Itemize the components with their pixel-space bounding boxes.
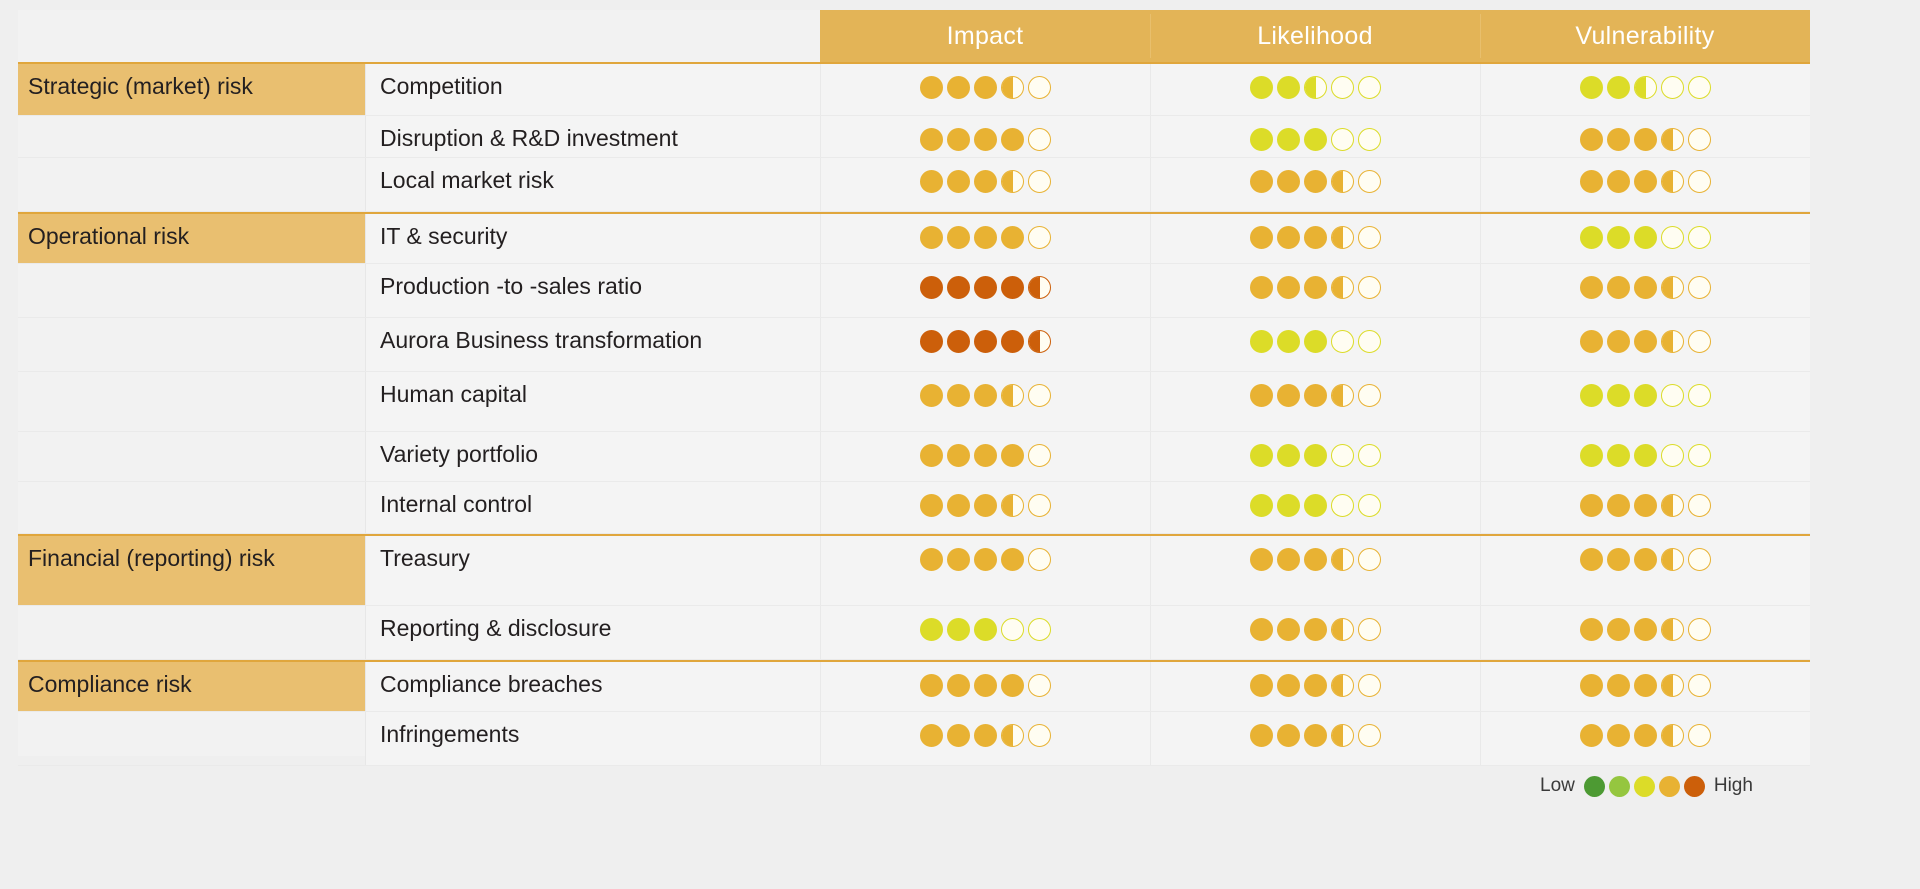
rating-cells [820, 432, 1810, 481]
rating-dot-full [1607, 444, 1630, 467]
rating-dots [1580, 128, 1711, 151]
rating-dot-full [1607, 276, 1630, 299]
rating-dot-half [1661, 330, 1684, 353]
rating-dot-full [974, 128, 997, 151]
rating-dot-half [1304, 76, 1327, 99]
rating-dot-half [1001, 494, 1024, 517]
rating-dots [1250, 226, 1381, 249]
rating-dot-full [1634, 276, 1657, 299]
rating-cells [820, 64, 1810, 115]
rating-dot-half [1661, 674, 1684, 697]
rating-cell-likelihood[interactable] [1150, 214, 1480, 263]
rating-dot-full [1607, 384, 1630, 407]
rating-dot-empty [1358, 276, 1381, 299]
rating-cell-vulnerability[interactable] [1480, 662, 1810, 711]
rating-cell-impact[interactable] [820, 432, 1150, 481]
rating-cell-impact[interactable] [820, 606, 1150, 659]
rating-dots [920, 618, 1051, 641]
rating-cell-impact[interactable] [820, 712, 1150, 765]
rating-dot-full [947, 226, 970, 249]
rating-cell-likelihood[interactable] [1150, 116, 1480, 157]
table-row[interactable]: Reporting & disclosure [18, 606, 1810, 660]
rating-cells [820, 214, 1810, 263]
rating-dots [1580, 76, 1711, 99]
table-row[interactable]: Operational riskIT & security [18, 212, 1810, 264]
rating-dot-full [1250, 548, 1273, 571]
rating-dot-half-fill [1029, 277, 1040, 298]
rating-dot-half-fill [1029, 331, 1040, 352]
rating-dots [920, 276, 1051, 299]
rating-cell-likelihood[interactable] [1150, 264, 1480, 317]
rating-dot-empty [1688, 226, 1711, 249]
rating-dots [1580, 170, 1711, 193]
rating-dot-half-fill [1662, 549, 1673, 570]
rating-dot-full [920, 76, 943, 99]
rating-dots [1580, 444, 1711, 467]
rating-dot-full [1250, 170, 1273, 193]
rating-cell-vulnerability[interactable] [1480, 712, 1810, 765]
rating-dot-empty [1358, 548, 1381, 571]
rating-dots [1580, 276, 1711, 299]
rating-cells [820, 712, 1810, 765]
rating-dots [1250, 330, 1381, 353]
rating-dot-full [1277, 724, 1300, 747]
rating-dots [1250, 494, 1381, 517]
rating-dots [1580, 548, 1711, 571]
rating-dot-full [920, 674, 943, 697]
rating-dot-empty [1028, 494, 1051, 517]
rating-dot-full [1634, 330, 1657, 353]
rating-dot-empty [1358, 618, 1381, 641]
table-row[interactable]: Aurora Business transformation [18, 318, 1810, 372]
rating-dot-full [920, 128, 943, 151]
rating-dot-empty [1028, 674, 1051, 697]
legend-swatches [1584, 776, 1705, 797]
rating-dot-half [1634, 76, 1657, 99]
rating-dot-half-fill [1662, 277, 1673, 298]
rating-dot-full [947, 170, 970, 193]
rating-dot-full [1607, 128, 1630, 151]
rating-dot-full [920, 384, 943, 407]
table-row[interactable]: Production -to -sales ratio [18, 264, 1810, 318]
rating-dot-full [1304, 276, 1327, 299]
rating-dots [1580, 674, 1711, 697]
table-row[interactable]: Internal control [18, 482, 1810, 534]
rating-dot-full [920, 170, 943, 193]
rating-cell-vulnerability[interactable] [1480, 158, 1810, 211]
rating-dot-full [1580, 170, 1603, 193]
rating-dots [920, 674, 1051, 697]
rating-dot-full [947, 76, 970, 99]
rating-dot-full [1304, 384, 1327, 407]
rating-dot-full [974, 384, 997, 407]
rating-dot-full [1001, 226, 1024, 249]
table-row[interactable]: Disruption & R&D investment [18, 116, 1810, 158]
risk-category-spacer [18, 116, 365, 157]
rating-cell-impact[interactable] [820, 64, 1150, 115]
rating-dot-full [920, 226, 943, 249]
rating-dot-empty [1358, 226, 1381, 249]
rating-dots [1250, 548, 1381, 571]
rating-dots [1250, 128, 1381, 151]
rating-cell-likelihood[interactable] [1150, 712, 1480, 765]
rating-dot-full [947, 444, 970, 467]
rating-dot-full [947, 128, 970, 151]
rating-dot-full [1634, 724, 1657, 747]
rating-dot-empty [1661, 226, 1684, 249]
rating-dot-full [1607, 724, 1630, 747]
rating-cell-vulnerability[interactable] [1480, 606, 1810, 659]
rating-dot-full [1250, 76, 1273, 99]
rating-dot-full [1580, 226, 1603, 249]
rating-dot-half [1331, 276, 1354, 299]
rating-dot-empty [1331, 76, 1354, 99]
rating-dots [920, 170, 1051, 193]
rating-dot-full [947, 384, 970, 407]
rating-cell-vulnerability[interactable] [1480, 64, 1810, 115]
rating-dot-full [920, 724, 943, 747]
rating-dot-full [1277, 128, 1300, 151]
rating-dot-full [1250, 226, 1273, 249]
rating-dot-empty [1028, 128, 1051, 151]
rating-dot-empty [1661, 384, 1684, 407]
rating-dot-full [947, 494, 970, 517]
rating-dot-full [1277, 384, 1300, 407]
rating-cell-impact[interactable] [820, 318, 1150, 371]
rating-cells [820, 372, 1810, 431]
rating-dot-full [974, 170, 997, 193]
risk-matrix-page: Impact Likelihood Vulnerability Strategi… [0, 0, 1920, 889]
rating-dot-full [1250, 618, 1273, 641]
table-row[interactable]: Strategic (market) riskCompetition [18, 62, 1810, 116]
rating-cell-likelihood[interactable] [1150, 158, 1480, 211]
rating-cell-impact[interactable] [820, 264, 1150, 317]
rating-dot-full [920, 276, 943, 299]
rating-dot-full [1580, 444, 1603, 467]
rating-dot-full [1580, 330, 1603, 353]
rating-cell-impact[interactable] [820, 482, 1150, 533]
rating-dot-full [1580, 276, 1603, 299]
rating-cell-vulnerability[interactable] [1480, 264, 1810, 317]
table-row[interactable]: Financial (reporting) riskTreasury [18, 534, 1810, 606]
rating-dot-empty [1028, 226, 1051, 249]
rating-dot-half-fill [1662, 171, 1673, 192]
risk-name: Compliance breaches [365, 662, 820, 711]
rating-dot-full [1580, 548, 1603, 571]
rating-dot-full [1001, 128, 1024, 151]
rating-dots [920, 128, 1051, 151]
rating-dot-half [1001, 76, 1024, 99]
risk-name: Human capital [365, 372, 820, 431]
rating-dot-empty [1661, 76, 1684, 99]
rating-cell-vulnerability[interactable] [1480, 214, 1810, 263]
table-row[interactable]: Human capital [18, 372, 1810, 432]
rating-dot-half-fill [1662, 619, 1673, 640]
rating-cell-likelihood[interactable] [1150, 536, 1480, 605]
rating-dot-full [1304, 618, 1327, 641]
rating-dot-empty [1358, 674, 1381, 697]
rating-dot-full [947, 548, 970, 571]
risk-name: Production -to -sales ratio [365, 264, 820, 317]
rating-dot-half-fill [1332, 619, 1343, 640]
rating-dot-full [1634, 674, 1657, 697]
risk-name: Aurora Business transformation [365, 318, 820, 371]
table-row[interactable]: Local market risk [18, 158, 1810, 212]
rating-dot-full [947, 724, 970, 747]
header-divider [1150, 14, 1151, 58]
rating-cell-likelihood[interactable] [1150, 432, 1480, 481]
risk-category-label: Strategic (market) risk [18, 64, 365, 115]
rating-dot-full [1634, 494, 1657, 517]
risk-category-spacer [18, 318, 365, 371]
rating-dots [1250, 276, 1381, 299]
rating-dot-half [1331, 618, 1354, 641]
rating-dot-full [1580, 674, 1603, 697]
rating-dot-full [974, 674, 997, 697]
rating-dot-full [1607, 494, 1630, 517]
rating-dot-empty [1688, 494, 1711, 517]
rating-dot-half [1661, 128, 1684, 151]
rating-dot-full [974, 276, 997, 299]
risk-name: Local market risk [365, 158, 820, 211]
rating-dot-full [1634, 444, 1657, 467]
rating-dots [920, 548, 1051, 571]
rating-cell-likelihood[interactable] [1150, 64, 1480, 115]
rating-dots [1250, 618, 1381, 641]
rating-dots [1250, 674, 1381, 697]
table-row[interactable]: Compliance riskCompliance breaches [18, 660, 1810, 712]
rating-cell-impact[interactable] [820, 158, 1150, 211]
rating-dot-full [974, 76, 997, 99]
rating-dot-full [1277, 444, 1300, 467]
rating-dot-full [1304, 494, 1327, 517]
rating-cell-impact[interactable] [820, 116, 1150, 157]
rating-dot-empty [1331, 330, 1354, 353]
rating-dot-half-fill [1635, 77, 1646, 98]
rating-dots [920, 384, 1051, 407]
rating-dot-full [1277, 76, 1300, 99]
rating-cells [820, 264, 1810, 317]
rating-dot-half-fill [1662, 495, 1673, 516]
rating-dot-full [1277, 548, 1300, 571]
rating-cell-likelihood[interactable] [1150, 606, 1480, 659]
rating-dot-full [1277, 226, 1300, 249]
rating-dot-half-fill [1332, 725, 1343, 746]
legend-swatch [1634, 776, 1655, 797]
rating-dot-half-fill [1002, 495, 1013, 516]
rating-cell-likelihood[interactable] [1150, 318, 1480, 371]
rating-dot-empty [1028, 444, 1051, 467]
rating-dot-half-fill [1305, 77, 1316, 98]
legend-high-label: High [1714, 775, 1753, 797]
rating-dot-full [920, 330, 943, 353]
rating-cell-likelihood[interactable] [1150, 372, 1480, 431]
risk-name: Treasury [365, 536, 820, 605]
rating-cell-vulnerability[interactable] [1480, 318, 1810, 371]
legend-swatch [1684, 776, 1705, 797]
header-divider [1480, 14, 1481, 58]
rating-cell-likelihood[interactable] [1150, 482, 1480, 533]
rating-dot-half [1028, 330, 1051, 353]
rating-dot-full [920, 494, 943, 517]
rating-dot-full [1250, 724, 1273, 747]
table-row[interactable]: Variety portfolio [18, 432, 1810, 482]
rating-dot-full [1607, 618, 1630, 641]
rating-dot-full [974, 548, 997, 571]
rating-dot-full [974, 494, 997, 517]
rating-dots [1250, 170, 1381, 193]
rating-dot-empty [1358, 330, 1381, 353]
rating-cell-impact[interactable] [820, 214, 1150, 263]
rating-dot-half-fill [1662, 129, 1673, 150]
risk-category-label: Financial (reporting) risk [18, 536, 365, 605]
rating-dot-full [1607, 674, 1630, 697]
rating-dot-empty [1688, 384, 1711, 407]
rating-dot-full [1304, 170, 1327, 193]
rating-dot-empty [1331, 444, 1354, 467]
rating-cell-impact[interactable] [820, 372, 1150, 431]
rating-dot-empty [1028, 170, 1051, 193]
rating-dot-full [1607, 548, 1630, 571]
rating-cell-impact[interactable] [820, 536, 1150, 605]
rating-dot-half [1331, 724, 1354, 747]
rating-dot-full [1607, 330, 1630, 353]
rating-dot-full [1304, 674, 1327, 697]
rating-dot-empty [1688, 128, 1711, 151]
risk-name: IT & security [365, 214, 820, 263]
rating-dot-full [1250, 276, 1273, 299]
rating-dot-full [1250, 330, 1273, 353]
rating-dots [1250, 724, 1381, 747]
rating-dot-half-fill [1332, 171, 1343, 192]
risk-category-spacer [18, 606, 365, 659]
rating-dot-empty [1688, 76, 1711, 99]
rating-dot-empty [1358, 128, 1381, 151]
rating-dot-full [1001, 674, 1024, 697]
rating-dot-full [1304, 444, 1327, 467]
rating-dot-half-fill [1332, 675, 1343, 696]
risk-category-spacer [18, 482, 365, 533]
risk-matrix-card: Impact Likelihood Vulnerability Strategi… [18, 10, 1810, 756]
risk-name: Competition [365, 64, 820, 115]
rating-dot-full [1580, 128, 1603, 151]
rating-dot-empty [1688, 170, 1711, 193]
rating-dot-full [974, 444, 997, 467]
rating-dots [920, 76, 1051, 99]
rating-cells [820, 116, 1810, 157]
rating-dot-full [1277, 494, 1300, 517]
rating-cell-vulnerability[interactable] [1480, 372, 1810, 431]
risk-category-label: Compliance risk [18, 662, 365, 711]
rating-dot-full [1250, 494, 1273, 517]
risk-category-spacer [18, 432, 365, 481]
rating-dot-half-fill [1332, 385, 1343, 406]
rating-dot-full [1304, 128, 1327, 151]
rating-dot-full [1250, 444, 1273, 467]
rating-dot-full [1001, 276, 1024, 299]
rating-dot-empty [1358, 724, 1381, 747]
rating-dots [1250, 384, 1381, 407]
rating-dots [1250, 76, 1381, 99]
rating-dots [920, 444, 1051, 467]
rating-dot-full [1250, 128, 1273, 151]
rating-dot-half-fill [1662, 675, 1673, 696]
legend: Low High [1540, 775, 1753, 797]
rating-dots [920, 226, 1051, 249]
rating-dot-full [1634, 128, 1657, 151]
rating-dot-empty [1331, 128, 1354, 151]
rating-dot-full [974, 226, 997, 249]
rating-dot-half [1661, 170, 1684, 193]
rating-dot-half-fill [1002, 385, 1013, 406]
column-header-likelihood: Likelihood [1150, 10, 1480, 62]
rating-dot-half [1331, 674, 1354, 697]
rating-dot-half-fill [1332, 227, 1343, 248]
rating-dots [920, 494, 1051, 517]
rating-dot-full [1634, 548, 1657, 571]
rating-cell-vulnerability[interactable] [1480, 432, 1810, 481]
rating-dot-half [1001, 384, 1024, 407]
rating-dot-full [974, 618, 997, 641]
rating-cell-vulnerability[interactable] [1480, 116, 1810, 157]
rating-dot-full [947, 618, 970, 641]
rating-dot-full [947, 330, 970, 353]
rating-cell-vulnerability[interactable] [1480, 536, 1810, 605]
rating-cells [820, 158, 1810, 211]
rating-dots [920, 330, 1051, 353]
rating-cells [820, 662, 1810, 711]
rating-dot-empty [1028, 76, 1051, 99]
rating-dot-full [1304, 330, 1327, 353]
risk-category-spacer [18, 712, 365, 765]
legend-swatch [1609, 776, 1630, 797]
rating-cell-likelihood[interactable] [1150, 662, 1480, 711]
rating-dot-full [1304, 548, 1327, 571]
column-header-impact: Impact [820, 10, 1150, 62]
table-row[interactable]: Infringements [18, 712, 1810, 766]
rating-cells [820, 482, 1810, 533]
risk-name: Internal control [365, 482, 820, 533]
rating-cell-vulnerability[interactable] [1480, 482, 1810, 533]
rating-dots [1580, 494, 1711, 517]
rating-dot-full [1277, 276, 1300, 299]
rating-dot-half [1661, 724, 1684, 747]
legend-swatch [1659, 776, 1680, 797]
rating-dot-empty [1688, 618, 1711, 641]
rating-dot-empty [1688, 674, 1711, 697]
rating-dot-half [1661, 276, 1684, 299]
rating-dot-full [1001, 548, 1024, 571]
rating-dot-full [1607, 226, 1630, 249]
rating-dot-empty [1358, 494, 1381, 517]
rating-dot-full [920, 548, 943, 571]
rating-dot-empty [1001, 618, 1024, 641]
rating-cells [820, 606, 1810, 659]
rating-dot-full [1634, 618, 1657, 641]
legend-swatch [1584, 776, 1605, 797]
risk-name: Infringements [365, 712, 820, 765]
risk-name: Reporting & disclosure [365, 606, 820, 659]
rating-dot-full [1580, 76, 1603, 99]
rating-dot-half-fill [1002, 725, 1013, 746]
rating-dot-full [1001, 330, 1024, 353]
rating-dot-empty [1028, 384, 1051, 407]
rating-dots [1580, 618, 1711, 641]
rating-cell-impact[interactable] [820, 662, 1150, 711]
rating-dot-full [974, 330, 997, 353]
rating-dot-half-fill [1662, 725, 1673, 746]
rating-dot-half [1661, 494, 1684, 517]
